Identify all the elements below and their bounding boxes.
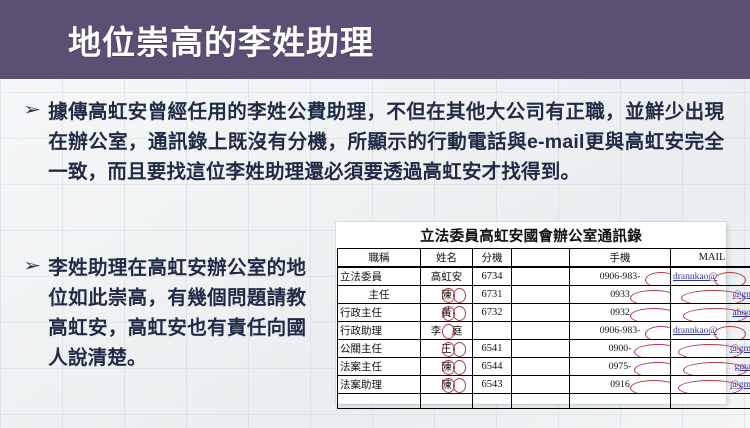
mail-link[interactable]: @gm (730, 344, 750, 354)
name-value: 王 (431, 341, 463, 356)
cell-empty (338, 394, 421, 409)
cell-mobile: 0932 (570, 304, 671, 322)
cell-name: 黃 (421, 304, 473, 322)
slide-canvas: 地位崇高的李姓助理 ➢ 據傳高虹安曾經任用的李姓公費助理，不但在其他大公司有正職… (0, 0, 750, 428)
col-header-mobile: 手機 (570, 249, 671, 268)
redaction-ellipse (630, 308, 670, 322)
table-title: 立法委員高虹安國會辦公室通訊錄 (336, 222, 726, 248)
cell-extension (473, 322, 512, 340)
cell-empty (473, 394, 512, 409)
redaction-ellipse (714, 326, 746, 340)
redaction-ellipse (453, 306, 466, 321)
table-row: 主任陳 67310933@gn (338, 286, 750, 304)
col-header-blank (512, 249, 570, 268)
mail-value: ahoo (733, 307, 750, 318)
title-banner: 地位崇高的李姓助理 (0, 0, 750, 79)
redaction-ellipse (453, 378, 466, 393)
cell-mobile: 0933 (570, 286, 671, 304)
cell-extension: 6734 (473, 267, 512, 286)
cell-blank (512, 304, 570, 322)
col-header-extension: 分機 (473, 249, 512, 268)
redaction-ellipse (714, 272, 746, 286)
mail-link[interactable]: drannkao@ (673, 326, 717, 336)
col-header-mail: MAIL (671, 249, 750, 268)
cell-mobile: 0906-983- (570, 322, 671, 340)
mail-value: @gn (733, 289, 750, 300)
table-row: 立法委員高虹安67340906-983-drannkao@ (338, 267, 750, 286)
page-title: 地位崇高的李姓助理 (68, 16, 374, 64)
cell-name: 陳 (421, 286, 473, 304)
mobile-value: 0933 (610, 289, 630, 300)
cell-mail[interactable]: @gm (671, 340, 750, 358)
redaction-ellipse (645, 326, 671, 340)
table-row: 行政主任黃 67320932ahoo (338, 304, 750, 322)
mobile-value: 0906-983- (600, 271, 641, 282)
col-header-job-title: 職稱 (338, 249, 421, 268)
cell-job-title: 行政主任 (338, 304, 421, 322)
redaction-ellipse (442, 306, 455, 321)
bullet-arrow-icon: ➢ (23, 253, 41, 274)
bullet-item-2: ➢ 李姓助理在高虹安辦公室的地位如此崇高，有幾個問題請教高虹安，高虹安也有責任向… (25, 253, 315, 373)
cell-empty (512, 394, 570, 409)
cell-name: 陳 (421, 358, 473, 376)
redaction-ellipse (453, 360, 466, 375)
cell-blank (512, 286, 570, 304)
mail-value: drannkao@ (673, 325, 717, 336)
cell-job-title: 主任 (338, 286, 421, 304)
cell-name: 陳 (421, 376, 473, 394)
redaction-ellipse (630, 380, 670, 394)
table-row: 法案助理陳 65430916@gm (338, 376, 750, 394)
mobile-value: 0900- (609, 343, 632, 354)
cell-extension: 6732 (473, 304, 512, 322)
cell-mobile: 0916 (570, 376, 671, 394)
cell-mobile: 0906-983- (570, 267, 671, 286)
bullet-item-1: ➢ 據傳高虹安曾經任用的李姓公費助理，不但在其他大公司有正職，並鮮少出現在辦公室… (25, 97, 731, 187)
mail-value: gma (735, 361, 750, 372)
table-row: 行政助理李 庭0906-983-drannkao@ (338, 322, 750, 340)
name-value: 陳 (431, 359, 463, 374)
redaction-ellipse (442, 378, 455, 393)
name-value: 高虹安 (431, 269, 463, 284)
redaction-ellipse (442, 342, 455, 357)
table-body: 立法委員高虹安67340906-983-drannkao@主任陳 6731093… (338, 267, 750, 409)
mail-value: @gm (730, 343, 750, 354)
cell-empty (671, 394, 750, 409)
mail-link[interactable]: @gm (730, 380, 750, 390)
mail-link[interactable]: drannkao@ (673, 272, 717, 282)
cell-extension: 6543 (473, 376, 512, 394)
cell-empty (570, 394, 671, 409)
cell-blank (512, 340, 570, 358)
bullet-text-1: 據傳高虹安曾經任用的李姓公費助理，不但在其他大公司有正職，並鮮少出現在辦公室，通… (48, 97, 724, 187)
cell-name: 王 (421, 340, 473, 358)
table-row: 公關主任王 65410900-@gm (338, 340, 750, 358)
cell-mail[interactable]: gma (671, 358, 750, 376)
table-row-empty (338, 394, 750, 409)
table-header: 職稱 姓名 分機 手機 MAIL (338, 249, 750, 268)
bullet-text-2: 李姓助理在高虹安辦公室的地位如此崇高，有幾個問題請教高虹安，高虹安也有責任向國人… (48, 253, 306, 373)
cell-mail[interactable]: ahoo (671, 304, 750, 322)
redaction-ellipse (645, 272, 671, 286)
redaction-ellipse (453, 288, 466, 303)
cell-job-title: 行政助理 (338, 322, 421, 340)
mail-link[interactable]: ahoo (733, 308, 750, 318)
mail-value: drannkao@ (673, 271, 717, 282)
contact-directory-table-card: 立法委員高虹安國會辦公室通訊錄 職稱 姓名 分機 手機 MAIL 立法委員高虹安… (336, 222, 726, 404)
name-value: 陳 (431, 287, 463, 302)
mobile-value: 0932 (610, 307, 630, 318)
cell-extension: 6731 (473, 286, 512, 304)
cell-job-title: 法案助理 (338, 376, 421, 394)
cell-blank (512, 358, 570, 376)
mobile-value: 0916 (610, 379, 630, 390)
cell-blank (512, 322, 570, 340)
col-header-name: 姓名 (421, 249, 473, 268)
mobile-value: 0975- (609, 361, 632, 372)
contact-directory-table: 職稱 姓名 分機 手機 MAIL 立法委員高虹安67340906-983-dra… (337, 248, 750, 409)
cell-job-title: 法案主任 (338, 358, 421, 376)
cell-mail[interactable]: @gm (671, 376, 750, 394)
redaction-ellipse (442, 288, 455, 303)
name-value: 李 庭 (431, 323, 463, 338)
cell-mail[interactable]: drannkao@ (671, 267, 750, 286)
cell-mail[interactable]: drannkao@ (671, 322, 750, 340)
mail-link[interactable]: gma (735, 362, 750, 372)
name-value: 黃 (431, 305, 463, 320)
redaction-ellipse (630, 290, 670, 304)
redaction-ellipse (453, 342, 466, 357)
cell-job-title: 公關主任 (338, 340, 421, 358)
cell-name: 李 庭 (421, 322, 473, 340)
cell-extension: 6541 (473, 340, 512, 358)
name-value: 陳 (431, 377, 463, 392)
cell-mobile: 0975- (570, 358, 671, 376)
cell-mobile: 0900- (570, 340, 671, 358)
cell-mail[interactable]: @gn (671, 286, 750, 304)
mobile-value: 0906-983- (600, 325, 641, 336)
cell-job-title: 立法委員 (338, 267, 421, 286)
redaction-ellipse (442, 324, 455, 339)
redaction-ellipse (442, 360, 455, 375)
redaction-ellipse (634, 362, 671, 376)
mail-value: @gm (730, 379, 750, 390)
mail-link[interactable]: @gn (733, 290, 750, 300)
cell-blank (512, 376, 570, 394)
bullet-arrow-icon: ➢ (23, 97, 41, 118)
cell-name: 高虹安 (421, 267, 473, 286)
table-row: 法案主任陳 65440975-gma (338, 358, 750, 376)
cell-blank (512, 267, 570, 286)
table-header-row: 職稱 姓名 分機 手機 MAIL (338, 249, 750, 268)
cell-empty (421, 394, 473, 409)
cell-extension: 6544 (473, 358, 512, 376)
redaction-ellipse (634, 344, 671, 358)
